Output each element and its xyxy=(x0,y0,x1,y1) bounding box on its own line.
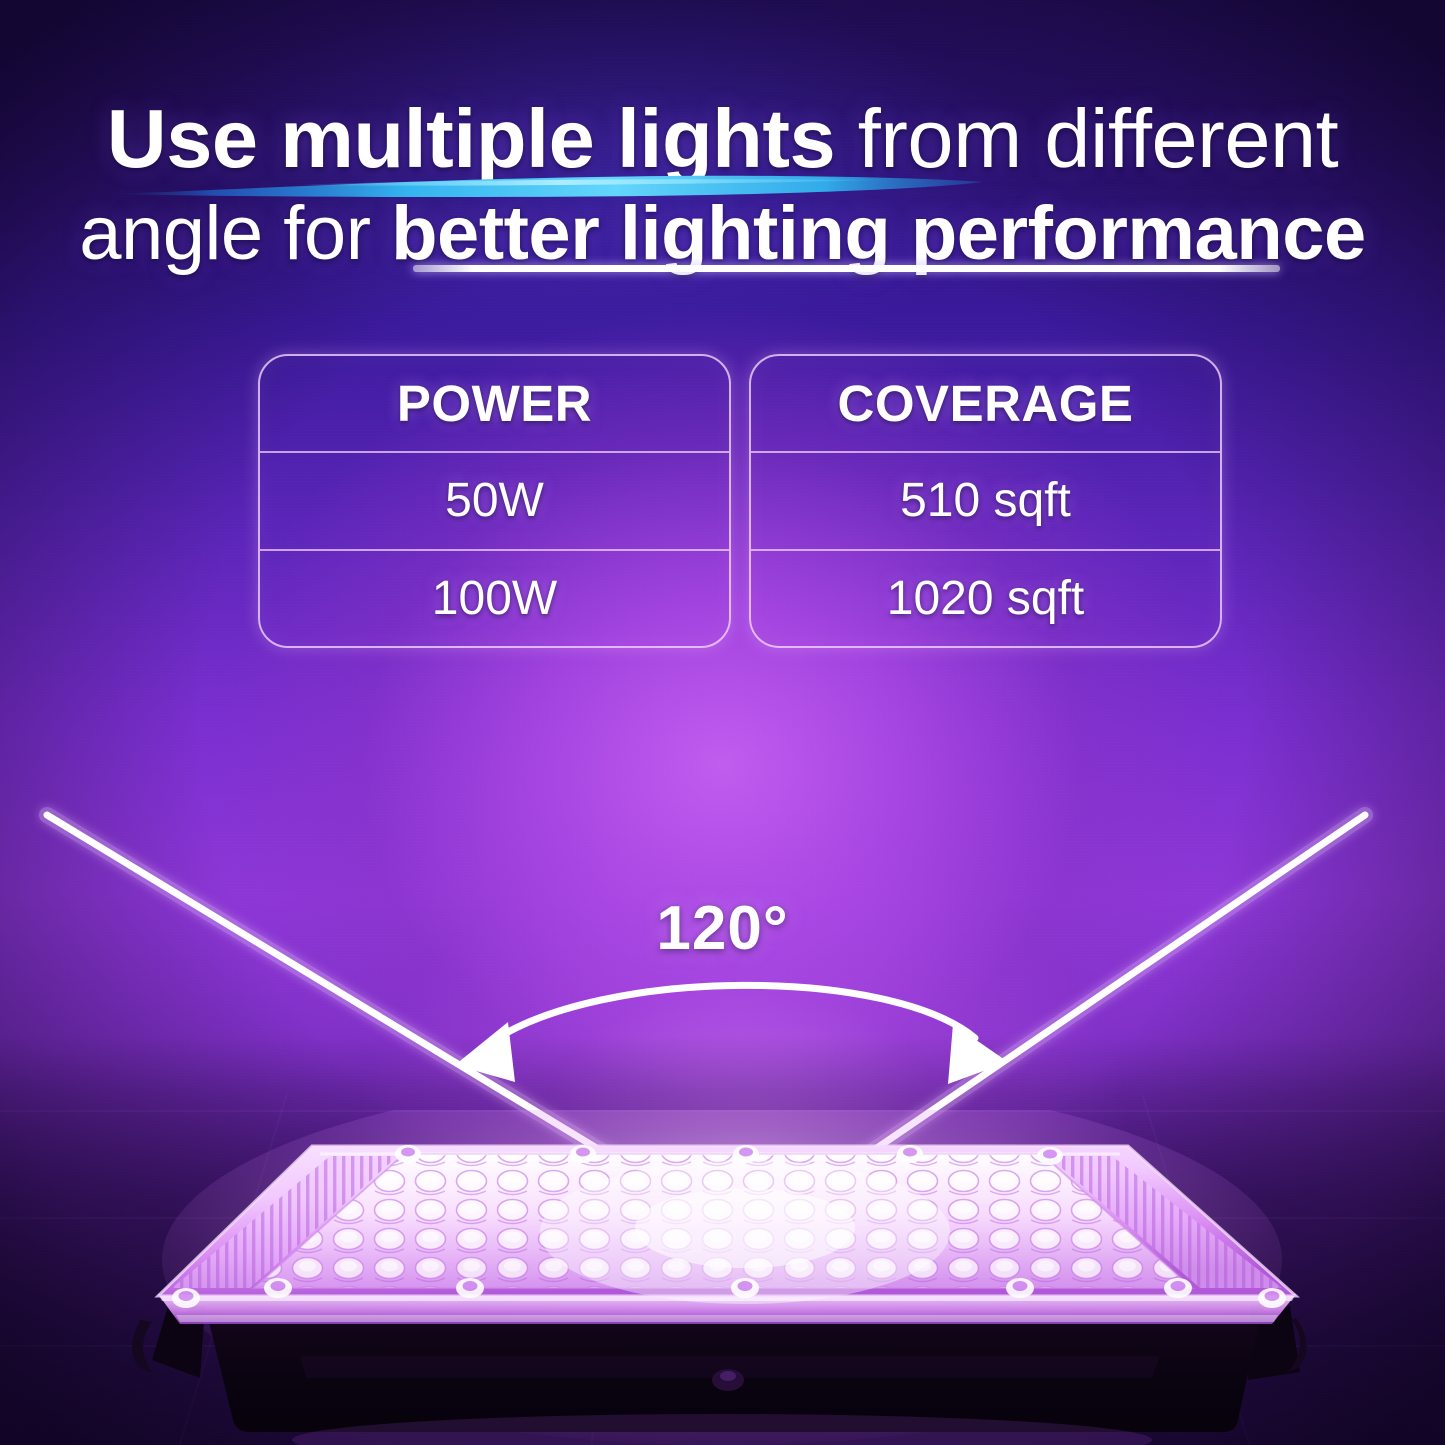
spec-value-coverage-2: 1020 sqft xyxy=(751,549,1220,646)
uv-led-flood-light xyxy=(0,1110,1445,1445)
spec-value-coverage-1: 510 sqft xyxy=(751,451,1220,548)
spec-value-power-2: 100W xyxy=(260,549,729,646)
spec-value-power-1: 50W xyxy=(260,451,729,548)
headline: Use multiple lights from different angle… xyxy=(0,96,1445,273)
infographic-canvas: Use multiple lights from different angle… xyxy=(0,0,1445,1445)
spec-table: POWER 50W 100W COVERAGE 510 sqft 1020 sq… xyxy=(258,354,1222,648)
headline-line1-light: from different xyxy=(835,92,1338,185)
headline-underline xyxy=(413,265,1280,272)
headline-line2-light: angle for xyxy=(79,191,391,276)
beam-angle-label: 120° xyxy=(0,893,1445,964)
spec-header-power: POWER xyxy=(260,356,729,451)
headline-line-1: Use multiple lights from different xyxy=(0,96,1445,182)
spec-column-power: POWER 50W 100W xyxy=(258,354,731,648)
headline-line1-bold: Use multiple lights xyxy=(107,92,835,185)
spec-header-coverage: COVERAGE xyxy=(751,356,1220,451)
headline-line-2: angle for better lighting performance xyxy=(0,194,1445,273)
headline-line2-bold: better lighting performance xyxy=(391,191,1366,276)
spec-column-coverage: COVERAGE 510 sqft 1020 sqft xyxy=(749,354,1222,648)
